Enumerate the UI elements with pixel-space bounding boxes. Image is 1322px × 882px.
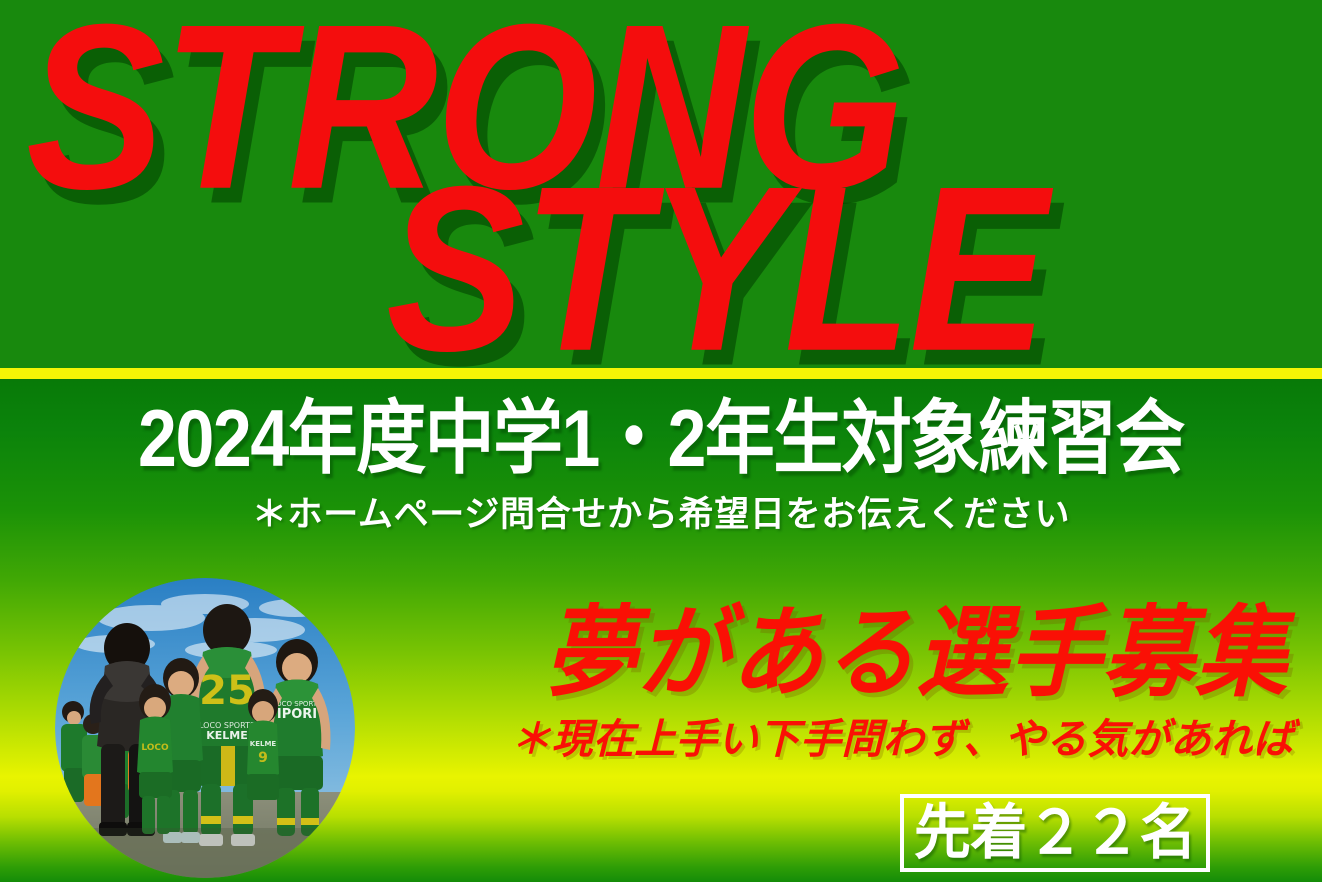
- team-photo-image: 25 LOCO SPORTS KELME: [55, 578, 355, 878]
- brand-banner: STRONG STYLE: [0, 0, 1322, 368]
- svg-text:LOCO: LOCO: [141, 743, 169, 753]
- svg-text:KELME: KELME: [250, 740, 277, 748]
- svg-text:9: 9: [258, 750, 268, 766]
- yellow-divider: [0, 368, 1322, 379]
- recruit-condition-note: ＊現在上手い下手問わず、やる気があれば: [510, 719, 1294, 760]
- brand-word-style: STYLE: [386, 152, 1046, 368]
- svg-text:25: 25: [199, 668, 255, 714]
- poster-root: STRONG STYLE 2024年度中学1・2年生対象練習会 ＊ホームページ問…: [0, 0, 1322, 882]
- recruit-headline: 夢がある選手募集: [545, 604, 1288, 703]
- svg-text:IPORI: IPORI: [277, 707, 317, 722]
- team-photo: 25 LOCO SPORTS KELME: [55, 578, 355, 878]
- svg-text:KELME: KELME: [206, 729, 248, 742]
- event-headline: 2024年度中学1・2年生対象練習会: [20, 399, 1302, 480]
- capacity-badge-label: 先着２２名: [914, 803, 1196, 863]
- contact-instruction-note: ＊ホームページ問合せから希望日をお伝えください: [0, 497, 1322, 532]
- capacity-badge: 先着２２名: [900, 794, 1210, 872]
